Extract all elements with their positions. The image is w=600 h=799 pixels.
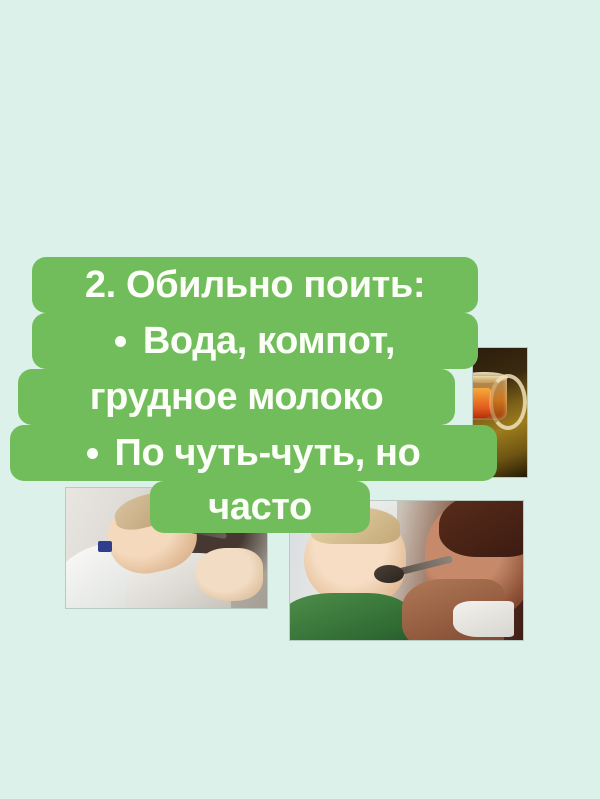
caption-line-heading: 2. Обильно поить: (32, 257, 478, 313)
slide-canvas: 2. Обильно поить: Вода, компот, грудное … (0, 0, 600, 799)
caption-line-item-1a: Вода, компот, (32, 313, 478, 369)
caption-text: Вода, компот, (143, 322, 395, 360)
bullet-icon (87, 448, 98, 459)
caption-line-item-1b: грудное молоко (18, 369, 455, 425)
caption-text: 2. Обильно поить: (85, 266, 425, 304)
caption-text: часто (208, 488, 312, 526)
caption-text: По чуть-чуть, но (115, 434, 421, 472)
caption-line-item-2b: часто (150, 481, 370, 533)
caption-line-item-2a: По чуть-чуть, но (10, 425, 497, 481)
caption-text: грудное молоко (90, 378, 384, 416)
bullet-icon (115, 336, 126, 347)
